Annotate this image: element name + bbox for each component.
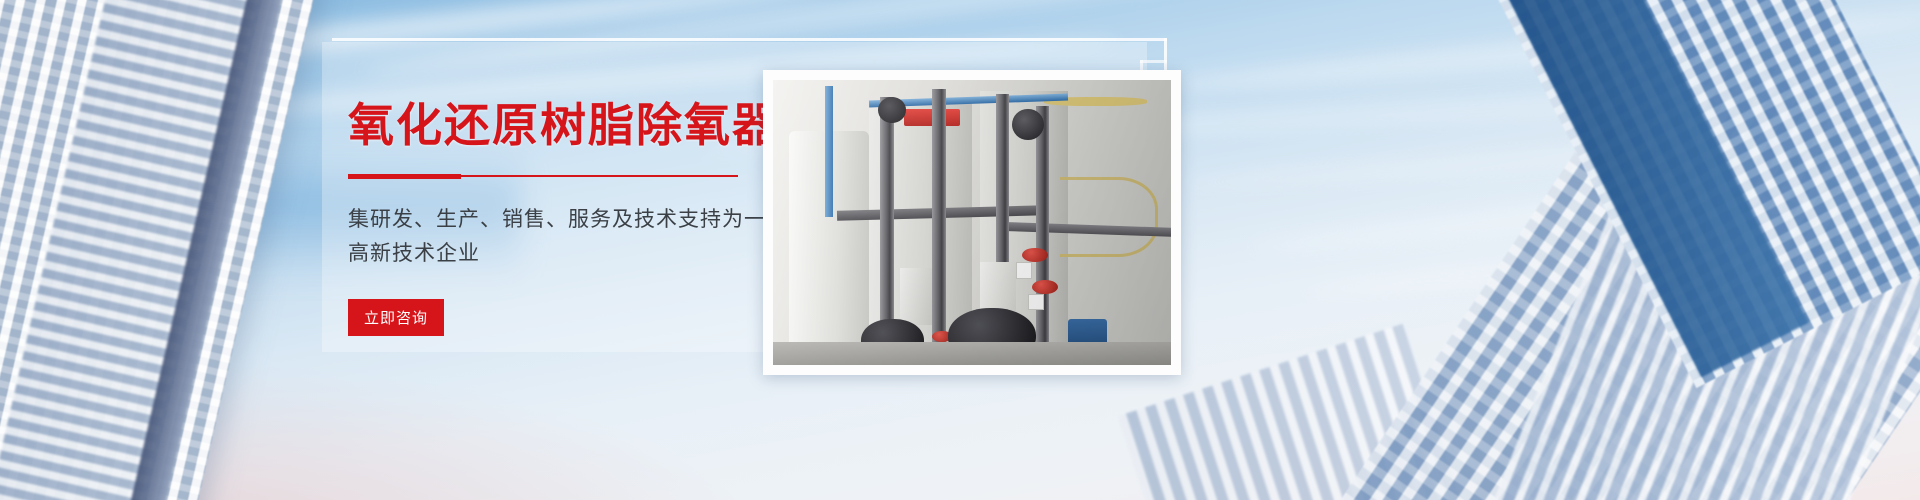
divider-thick-segment (348, 174, 461, 179)
hero-subtitle-line-1: 集研发、生产、销售、服务及技术支持为一体 (348, 204, 748, 237)
consult-now-button[interactable]: 立即咨询 (348, 299, 444, 336)
deaerator-equipment-photo (773, 80, 1171, 365)
photo-lighting-overlay (773, 80, 1171, 365)
equipment-photo-frame[interactable] (763, 70, 1181, 375)
title-divider (348, 174, 738, 178)
hero-subtitle-line-2: 高新技术企业 (348, 238, 748, 271)
hero-text-block: 氧化还原树脂除氧器 集研发、生产、销售、服务及技术支持为一体 高新技术企业 立即… (348, 100, 748, 336)
hero-banner: 氧化还原树脂除氧器 集研发、生产、销售、服务及技术支持为一体 高新技术企业 立即… (0, 0, 1920, 500)
panel-bracket-top (332, 38, 1167, 41)
panel-bracket-inner-top (1140, 60, 1167, 63)
page-title: 氧化还原树脂除氧器 (348, 100, 748, 152)
